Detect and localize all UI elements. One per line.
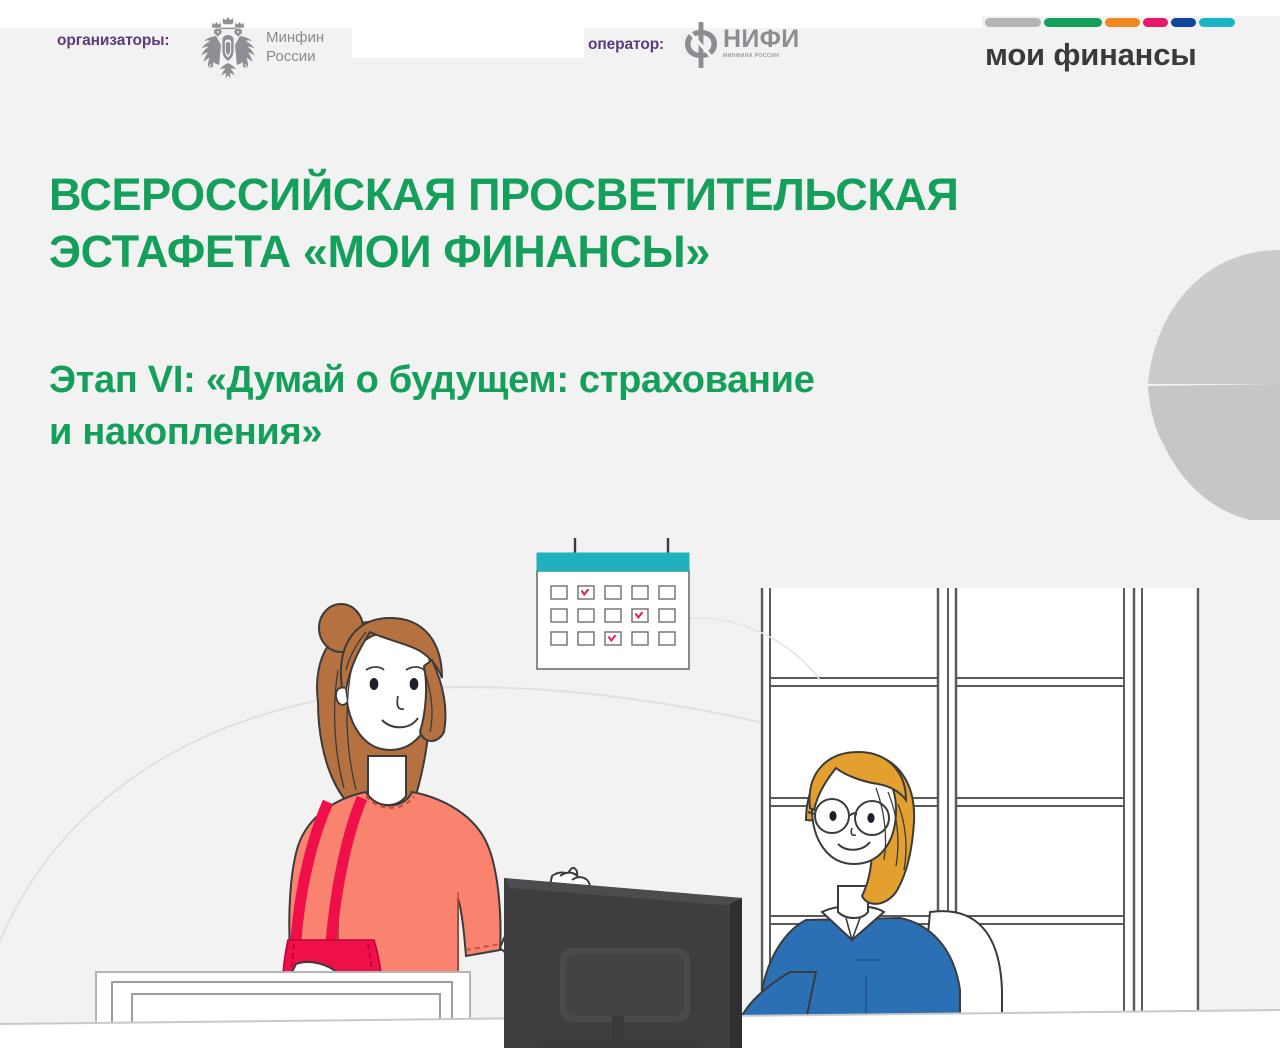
page-title: ВСЕРОССИЙСКАЯ ПРОСВЕТИТЕЛЬСКАЯ ЭСТАФЕТА … xyxy=(49,166,1194,280)
minfin-logo: Минфин России xyxy=(198,12,358,82)
operator-label: оператор: xyxy=(588,36,664,54)
organizers-label: организаторы: xyxy=(57,32,169,50)
brand-wordmark: мои финансы xyxy=(985,38,1235,72)
nifi-title: НИФИ xyxy=(723,26,800,52)
header-white-block xyxy=(982,0,1280,16)
slide-header: организаторы: xyxy=(0,0,1280,96)
russian-coat-of-arms-icon xyxy=(198,14,258,80)
nifi-wordmark: НИФИ МИНФИНА РОССИИ xyxy=(723,22,800,60)
brand-bar-gray xyxy=(985,18,1041,27)
nifi-phi-icon xyxy=(684,22,718,68)
desktop-monitor-rear xyxy=(504,878,742,1048)
nifi-subtitle: МИНФИНА РОССИИ xyxy=(723,53,800,60)
wall-calendar xyxy=(537,538,689,669)
brand-bar-orange xyxy=(1105,18,1141,27)
brand-bar-blue xyxy=(1171,18,1196,27)
brand-bar-pink xyxy=(1143,18,1168,27)
brand-bar-green xyxy=(1044,18,1101,27)
moi-finansy-logo: мои финансы xyxy=(985,18,1235,80)
page-subtitle: Этап VI: «Думай о будущем: страхование и… xyxy=(49,354,1214,458)
brand-color-bars xyxy=(985,18,1235,27)
minfin-name: Минфин России xyxy=(266,28,324,66)
office-consultation-illustration xyxy=(0,520,1280,1048)
brand-bar-cyan xyxy=(1199,18,1235,27)
nifi-logo: НИФИ МИНФИНА РОССИИ xyxy=(684,22,804,72)
slide-root: организаторы: xyxy=(0,0,1280,1048)
header-white-block xyxy=(352,0,584,58)
